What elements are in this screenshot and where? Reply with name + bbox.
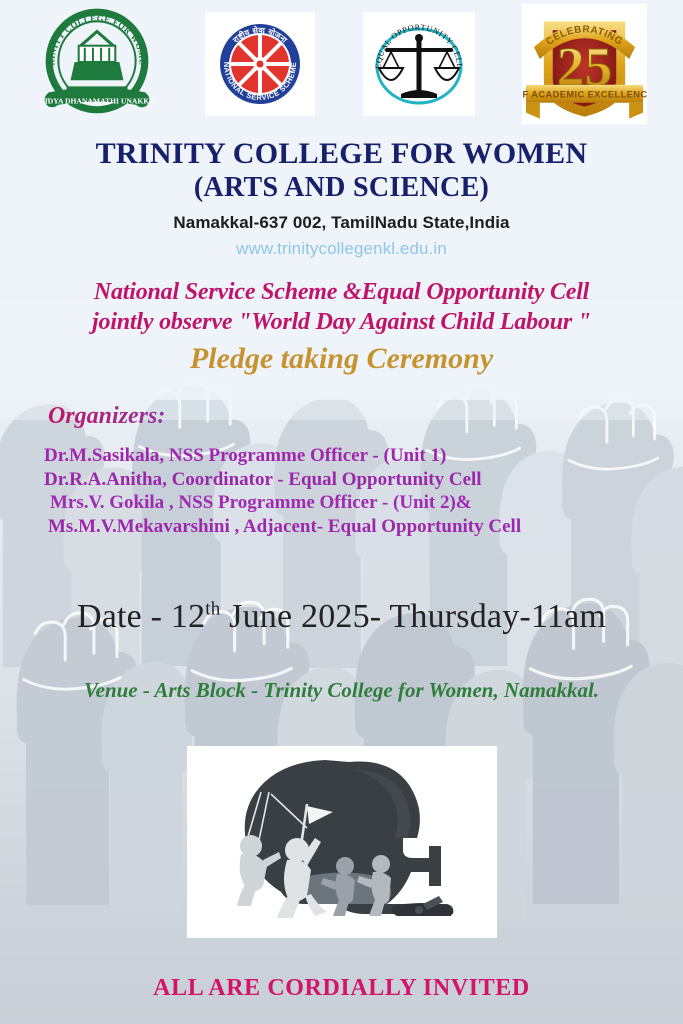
date-suffix: June 2025- Thursday-11am — [220, 598, 606, 635]
event-title-line2: jointly observe "World Day Against Child… — [0, 307, 683, 337]
svg-text:OF ACADEMIC EXCELLENCE: OF ACADEMIC EXCELLENCE — [522, 90, 647, 100]
organizers-label: Organizers: — [48, 403, 165, 430]
college-address: Namakkal-637 002, TamilNadu State,India — [0, 213, 683, 233]
college-name-line1: TRINITY COLLEGE FOR WOMEN — [96, 137, 588, 170]
invitation-text: ALL ARE CORDIALLY INVITED — [0, 975, 683, 1002]
college-website[interactable]: www.trinitycollegenkl.edu.in — [0, 239, 683, 259]
organizer-item: Dr.M.Sasikala, NSS Programme Officer - (… — [44, 444, 644, 468]
date-prefix: Date - 12 — [77, 598, 205, 635]
college-name-line2: (ARTS AND SCIENCE) — [0, 172, 683, 203]
event-date: Date - 12th June 2025- Thursday-11am — [0, 598, 683, 636]
poster-canvas: TRINITY COLLEGE FOR WOMEN VIDYA DHANAMAT… — [0, 0, 683, 1024]
date-ordinal-suffix: th — [205, 599, 220, 620]
logo-row: TRINITY COLLEGE FOR WOMEN VIDYA DHANAMAT… — [0, 0, 683, 128]
nss-logo: राष्ट्रीय सेवा योजना NATIONAL SERVICE SC… — [205, 12, 315, 116]
organizer-item: Mrs.V. Gokila , NSS Programme Officer - … — [44, 491, 644, 515]
organizers-list: Dr.M.Sasikala, NSS Programme Officer - (… — [44, 444, 644, 538]
page-title: TRINITY COLLEGE FOR WOMEN (ARTS AND SCIE… — [0, 138, 683, 203]
child-labour-silhouette — [187, 746, 497, 938]
silver-jubilee-logo: 25 years CELEBRATING OF ACADEMIC EXCELLE… — [522, 3, 647, 125]
organizer-item: Ms.M.V.Mekavarshini , Adjacent- Equal Op… — [44, 515, 644, 539]
ceremony-subtitle: Pledge taking Ceremony — [0, 342, 683, 376]
event-venue: Venue - Arts Block - Trinity College for… — [0, 678, 683, 703]
organizer-item: Dr.R.A.Anitha, Coordinator - Equal Oppor… — [44, 468, 644, 492]
event-title-line1: National Service Scheme &Equal Opportuni… — [0, 277, 683, 307]
equal-opportunity-cell-logo: EQUAL OPPORTUNITY CELL — [363, 12, 475, 116]
event-title: National Service Scheme &Equal Opportuni… — [0, 277, 683, 337]
trinity-college-logo: TRINITY COLLEGE FOR WOMEN VIDYA DHANAMAT… — [36, 5, 158, 123]
svg-text:VIDYA DHANAMATHI UNAKKU: VIDYA DHANAMATHI UNAKKU — [39, 97, 155, 106]
